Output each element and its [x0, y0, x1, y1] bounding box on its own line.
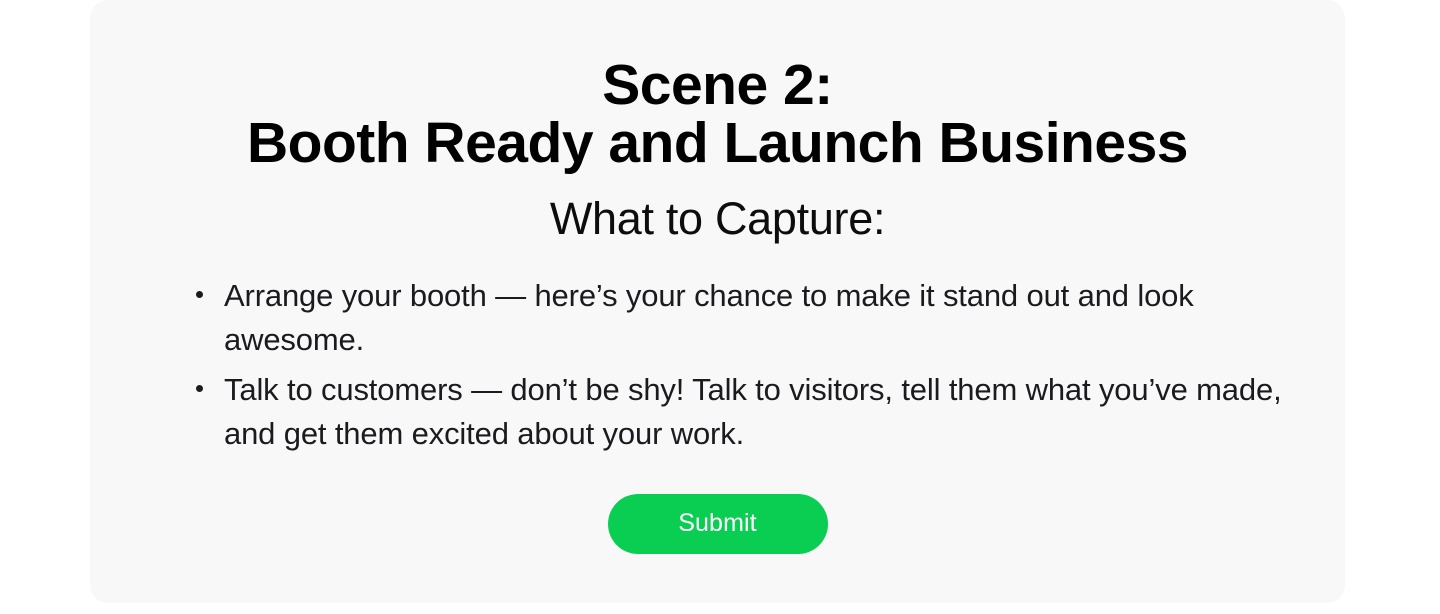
list-item: Talk to customers — don’t be shy! Talk t… [194, 368, 1293, 456]
submit-button-row: Submit [90, 462, 1345, 554]
bullet-dot-icon [196, 291, 203, 298]
submit-button[interactable]: Submit [608, 494, 828, 554]
page-title-line-2: Booth Ready and Launch Business [90, 114, 1345, 172]
capture-instructions-list: Arrange your booth — here’s your chance … [90, 244, 1345, 456]
subtitle-what-to-capture: What to Capture: [90, 172, 1345, 244]
list-item: Arrange your booth — here’s your chance … [194, 274, 1293, 362]
bullet-dot-icon [196, 385, 203, 392]
page-title: Scene 2: Booth Ready and Launch Business [90, 0, 1345, 172]
page-title-line-1: Scene 2: [90, 56, 1345, 114]
list-item-text: Arrange your booth — here’s your chance … [224, 278, 1194, 357]
list-item-text: Talk to customers — don’t be shy! Talk t… [224, 372, 1282, 451]
scene-instruction-card: Scene 2: Booth Ready and Launch Business… [90, 0, 1345, 603]
